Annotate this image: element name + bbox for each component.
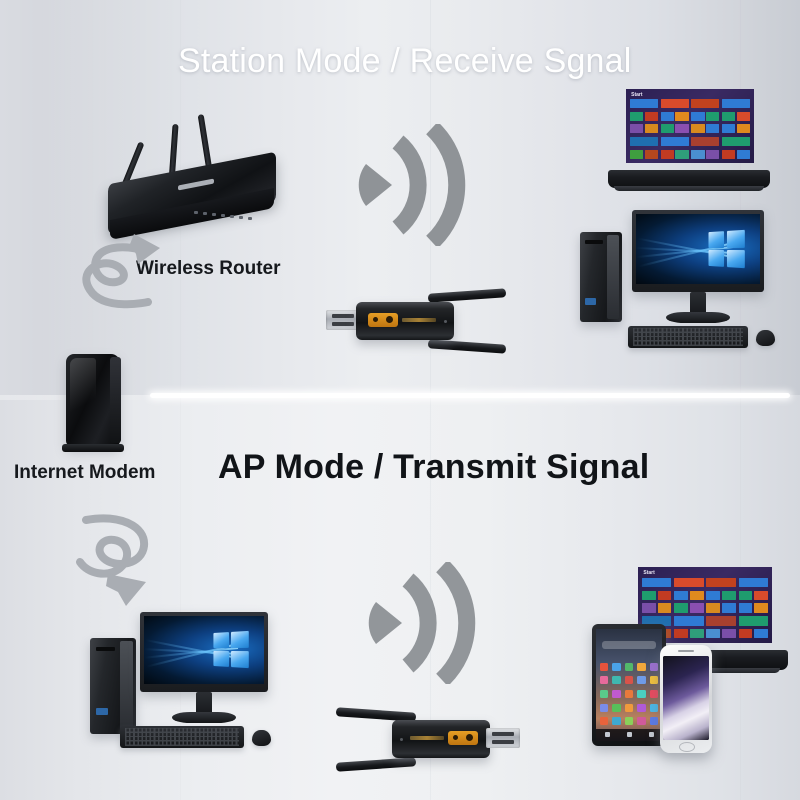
win8-tile [722, 150, 735, 159]
tablet-app-icon [650, 663, 658, 671]
win8-tile [630, 99, 658, 108]
internet-modem-label: Internet Modem [14, 462, 155, 484]
adapter-logo-dot-a [373, 317, 378, 322]
win8-tile [706, 629, 720, 638]
win8-tile [691, 99, 719, 108]
pc-tower-drive-bay-bottom [96, 647, 115, 651]
phone-earpiece [678, 650, 694, 652]
phone-wallpaper [663, 656, 709, 740]
win8-tile-column-2b [674, 578, 703, 639]
router-led-4 [221, 214, 225, 217]
tablet-app-icon [650, 676, 658, 684]
mouse-bottom [252, 730, 271, 746]
win8-tile-column-1 [630, 99, 658, 158]
bottom-section-title: AP Mode / Transmit Signal [218, 448, 649, 487]
adapter-model-text-top [402, 318, 436, 322]
pc-tower-drive-bay-top [585, 240, 603, 244]
tablet-app-icon [637, 676, 645, 684]
win8-tile [645, 112, 658, 121]
modem-side-panel [110, 357, 121, 443]
router-led-2 [203, 212, 207, 215]
windows10-logo-bottom [214, 631, 249, 669]
pc-tower-top [580, 232, 622, 322]
adapter-usb-slot-d [492, 740, 514, 744]
adapter-antenna-lower-top [428, 339, 506, 353]
router-led-3 [212, 213, 216, 216]
pc-tower-side-panel-bottom [120, 641, 133, 731]
win8-tile [722, 99, 750, 108]
win8-tile [674, 603, 688, 612]
tablet-app-icon [600, 676, 608, 684]
mouse-top [756, 330, 775, 346]
modem-gloss-highlight [70, 358, 96, 432]
monitor-stand-top [666, 312, 730, 323]
win8-tile [690, 629, 704, 638]
tablet-app-icon [625, 717, 633, 725]
tablet-search-bar [602, 641, 656, 649]
adapter-model-text-bottom [410, 736, 444, 740]
adapter-logo-dot-b [386, 316, 393, 323]
win8-tile [674, 629, 688, 638]
router-led-7 [248, 217, 252, 220]
pc-tower-bottom [90, 638, 136, 734]
win8-tile [674, 616, 703, 625]
win8-tile [722, 124, 735, 133]
win8-tile [690, 603, 704, 612]
modem-base-stand [62, 444, 124, 452]
win8-tile [739, 578, 768, 587]
tablet-app-icon [612, 704, 620, 712]
monitor-stand-bottom [172, 712, 236, 723]
win8-tile [722, 629, 736, 638]
win8-tile [645, 150, 658, 159]
keyboard-keys-bottom [125, 728, 239, 746]
win8-tile [642, 603, 656, 612]
laptop-windows8-top: Start [608, 84, 770, 202]
adapter-led-top [444, 320, 447, 323]
wireless-router-illustration [108, 112, 288, 237]
win8-tile [630, 112, 643, 121]
win8-tile [754, 591, 768, 600]
tablet-screen [596, 629, 662, 741]
laptop-screen-top: Start [626, 89, 754, 163]
win8-tile-column-3b [706, 578, 735, 639]
tablet-app-icon [625, 663, 633, 671]
win8-tile [706, 150, 719, 159]
win8-tile [661, 137, 689, 146]
win8-tile [675, 124, 688, 133]
monitor-neck-top [690, 292, 706, 314]
win8-tile [706, 112, 719, 121]
tablet-app-icon [637, 704, 645, 712]
monitor-screen-bottom [144, 616, 264, 684]
win8-tile [674, 591, 688, 600]
tablet-app-icon [625, 676, 633, 684]
internet-modem-illustration [58, 354, 138, 459]
win8-tile [706, 616, 735, 625]
adapter-usb-slot-b [332, 322, 354, 326]
monitor-bezel-bottom [140, 612, 268, 692]
win8-tile [661, 112, 674, 121]
win8-tile [675, 112, 688, 121]
adapter-usb-connector-top [326, 310, 360, 330]
tablet-nav-recents-icon [649, 732, 654, 737]
tablet-app-icon [650, 717, 658, 725]
tablet-app-icon [650, 704, 658, 712]
tablet-app-grid [600, 663, 658, 726]
desktop-pc-top [578, 208, 778, 353]
adapter-body-top [356, 302, 454, 340]
pc-tower-badge-top [585, 298, 596, 305]
windows8-start-screen-top: Start [626, 89, 754, 163]
win8-tile-column-3 [691, 99, 719, 158]
pc-tower-side-panel-top [607, 235, 619, 319]
win8-tile [645, 124, 658, 133]
win8-start-label-bottom: Start [643, 570, 654, 576]
win8-tile [722, 137, 750, 146]
tablet-app-icon [600, 704, 608, 712]
section-divider [150, 393, 790, 398]
win8-tile [642, 591, 656, 600]
adapter-led-bottom [400, 738, 403, 741]
tablet-app-icon [600, 663, 608, 671]
tablet-app-icon [612, 690, 620, 698]
adapter-usb-slot-c [492, 732, 514, 736]
monitor-bezel-top [632, 210, 764, 292]
curved-arrow-icon-top [64, 228, 168, 312]
win8-tile-column-2 [661, 99, 689, 158]
desktop-pc-bottom [62, 604, 272, 754]
win8-tile-grid-top [630, 99, 750, 158]
infographic-canvas: Station Mode / Receive Sgnal AP Mode / T… [0, 0, 800, 800]
adapter-logo-dot-c [453, 735, 458, 740]
modem-body [66, 354, 120, 446]
windows10-wallpaper-bottom [144, 616, 264, 684]
usb-wifi-adapter-top [326, 286, 506, 358]
adapter-usb-slot-a [332, 314, 354, 318]
adapter-logo-dot-d [466, 734, 473, 741]
router-led-1 [194, 211, 198, 214]
win8-tile [675, 150, 688, 159]
win8-tile [674, 578, 703, 587]
phone-home-button[interactable] [679, 742, 695, 752]
tablet-app-icon [637, 717, 645, 725]
keyboard-top [628, 326, 748, 348]
wifi-signal-icon-top [352, 124, 474, 246]
win8-tile [706, 578, 735, 587]
router-led-5 [230, 215, 234, 218]
win8-tile [739, 629, 753, 638]
win8-tile [739, 591, 753, 600]
tablet-app-icon [600, 690, 608, 698]
wifi-signal-icon-bottom [362, 562, 484, 684]
win8-start-label-top: Start [631, 92, 642, 98]
keyboard-bottom [120, 726, 244, 748]
phone-screen [663, 656, 709, 740]
win8-tile [754, 629, 768, 638]
tablet-nav-bar [596, 729, 662, 741]
win8-tile [737, 150, 750, 159]
top-section-title: Station Mode / Receive Sgnal [178, 42, 632, 81]
win8-tile [691, 124, 704, 133]
adapter-body-bottom [392, 720, 490, 758]
laptop-base-lip-top [614, 186, 764, 191]
win8-tile [642, 578, 671, 587]
win8-tile-column-4b [739, 578, 768, 639]
win8-tile-column-4 [722, 99, 750, 158]
tablet-app-icon [637, 663, 645, 671]
win8-tile [691, 112, 704, 121]
win8-tile [739, 603, 753, 612]
win8-tile [722, 603, 736, 612]
win8-tile [661, 124, 674, 133]
win8-tile [722, 591, 736, 600]
win8-tile [690, 591, 704, 600]
smartphone-white [660, 645, 712, 753]
tablet-app-icon [612, 663, 620, 671]
windows10-wallpaper-top [636, 214, 760, 284]
win8-tile [691, 150, 704, 159]
tablet-nav-home-icon [627, 732, 632, 737]
win8-tile [706, 124, 719, 133]
tablet-app-icon [600, 717, 608, 725]
win8-tile [706, 603, 720, 612]
win8-tile [737, 112, 750, 121]
win8-tile [630, 124, 643, 133]
win8-tile [739, 616, 768, 625]
tablet-nav-back-icon [605, 732, 610, 737]
monitor-neck-bottom [196, 692, 212, 714]
win8-tile [661, 99, 689, 108]
usb-wifi-adapter-bottom [336, 704, 520, 776]
router-led-6 [239, 216, 243, 219]
win8-tile [661, 150, 674, 159]
win8-tile [630, 150, 643, 159]
monitor-screen-top [636, 214, 760, 284]
win8-tile [691, 137, 719, 146]
tablet-app-icon [612, 717, 620, 725]
adapter-antenna-upper-top [428, 288, 506, 302]
adapter-usb-connector-bottom [486, 728, 520, 748]
pc-tower-badge-bottom [96, 708, 108, 715]
win8-tile [737, 124, 750, 133]
curved-arrow-icon-bottom [62, 512, 172, 612]
tablet-app-icon [625, 690, 633, 698]
keyboard-keys-top [633, 328, 743, 346]
tablet-app-icon [650, 690, 658, 698]
win8-tile [706, 591, 720, 600]
tablet-app-icon [612, 676, 620, 684]
tablet-app-icon [637, 690, 645, 698]
tablet-android [592, 624, 666, 746]
win8-tile [722, 112, 735, 121]
win8-tile [658, 603, 672, 612]
win8-tile [658, 591, 672, 600]
windows10-logo-top [708, 230, 745, 269]
tablet-app-icon [625, 704, 633, 712]
win8-tile [630, 137, 658, 146]
adapter-antenna-lower-bottom [336, 757, 416, 772]
win8-tile [754, 603, 768, 612]
